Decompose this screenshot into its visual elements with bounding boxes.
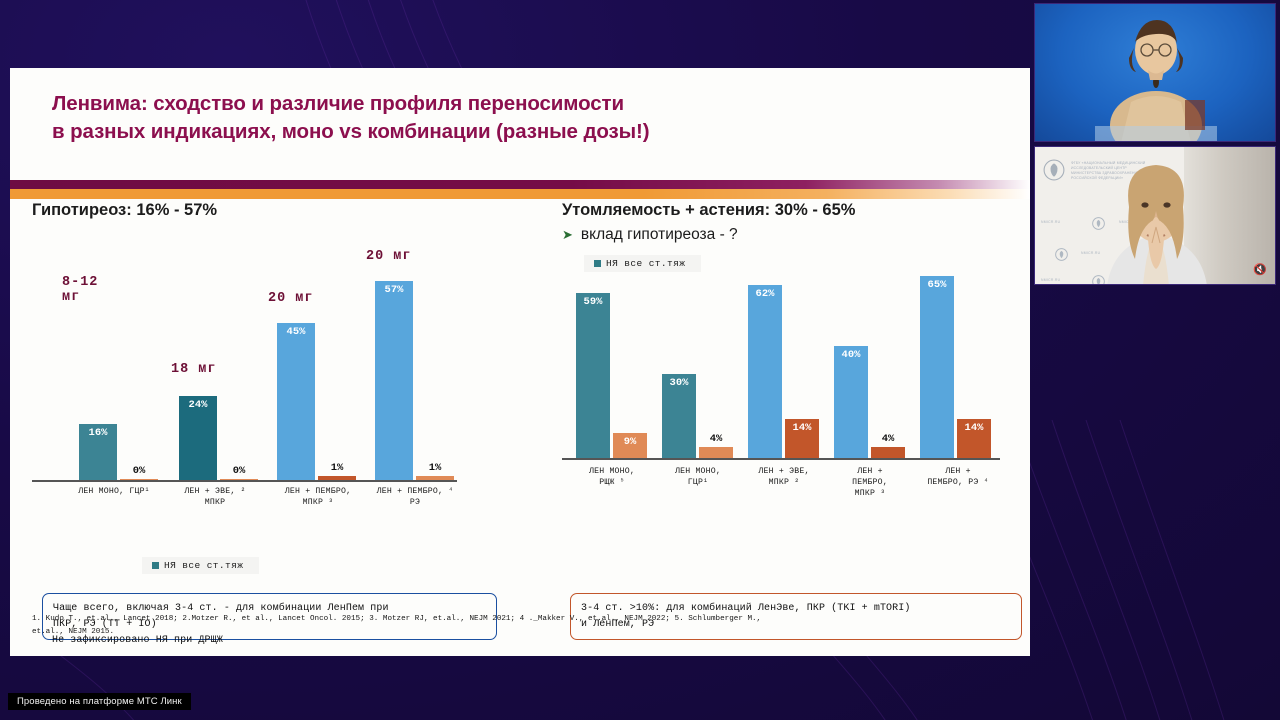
bar-value: 1%	[429, 462, 442, 474]
video-tile-speaker-2[interactable]: ФГБУ «НАЦИОНАЛЬНЫЙ МЕДИЦИНСКИЙ ИССЛЕДОВА…	[1034, 146, 1276, 285]
bar-fatigue-all-3: 62%	[748, 285, 782, 458]
hypothyroidism-chart: 8-12 мг 16% 0% ЛЕН МОНО, ГЦР¹ 18 мг 24% …	[32, 240, 528, 482]
bar-value: 0%	[133, 465, 146, 477]
bar-value: 59%	[584, 296, 603, 308]
fatigue-chart: 59% 9% ЛЕН МОНО, РЩЖ ⁵ 30% 4% ЛЕН МОНО, …	[562, 280, 1022, 460]
legend-swatch-icon	[594, 260, 601, 267]
x-axis	[562, 458, 1000, 460]
bar-hypo-severe-2: 0%	[220, 479, 258, 480]
legend-swatch-icon	[152, 562, 159, 569]
bar-value: 9%	[624, 436, 637, 448]
video-tile-speaker-1[interactable]	[1034, 3, 1276, 142]
left-legend-wrap: НЯ все ст.тяж	[142, 556, 259, 574]
bar-fatigue-severe-4: 4%	[871, 447, 905, 458]
x-label-5: ЛЕН + ПЕМБРО, РЭ ⁴	[908, 466, 1008, 488]
bar-fatigue-all-1: 59%	[576, 293, 610, 458]
speaker-1-figure	[1035, 4, 1276, 142]
bar-value: 4%	[882, 433, 895, 445]
bar-value: 0%	[233, 465, 246, 477]
legend-label: НЯ все ст.тяж	[164, 560, 243, 571]
left-chart-title: Гипотиреоз: 16% - 57%	[32, 201, 528, 220]
speaker-2-figure	[1035, 147, 1276, 285]
bar-fatigue-all-5: 65%	[920, 276, 954, 458]
x-label-1: ЛЕН МОНО, РЩЖ ⁵	[564, 466, 660, 488]
right-chart-title: Утомляемость + астения: 30% - 65%	[562, 201, 1022, 220]
bar-hypo-all-1: 16%	[79, 424, 117, 480]
bar-value: 1%	[331, 462, 344, 474]
dose-annotation-1: 8-12 мг	[62, 275, 98, 306]
dose-annotation-2: 18 мг	[171, 362, 217, 377]
bar-fatigue-severe-3: 14%	[785, 419, 819, 458]
bar-fatigue-severe-1: 9%	[613, 433, 647, 458]
dose-annotation-3: 20 мг	[268, 291, 314, 306]
bar-hypo-all-2: 24%	[179, 396, 217, 480]
platform-watermark: Проведено на платформе МТС Линк	[8, 693, 191, 710]
dose-annotation-4: 20 мг	[366, 249, 412, 264]
bar-fatigue-all-2: 30%	[662, 374, 696, 458]
references-footnote: 1. Kudo T., et.al., Lancet 2018; 2.Motze…	[32, 613, 1002, 639]
mic-muted-icon: 🔇	[1253, 265, 1267, 276]
bar-value: 4%	[710, 433, 723, 445]
presentation-slide: Ленвима: сходство и различие профиля пер…	[10, 68, 1030, 656]
left-chart-panel: Гипотиреоз: 16% - 57% 8-12 мг 16% 0% ЛЕН…	[32, 201, 528, 482]
x-label-4: ЛЕН + ПЕМБРО, ⁴ РЭ	[355, 486, 475, 508]
bar-value: 40%	[842, 349, 861, 361]
bar-hypo-severe-1: 0%	[120, 479, 158, 480]
right-legend-wrap: НЯ все ст.тяж	[584, 254, 1022, 272]
bar-value: 45%	[287, 326, 306, 338]
bar-hypo-all-4: 57%	[375, 281, 413, 480]
bar-value: 24%	[189, 399, 208, 411]
bar-value: 16%	[89, 427, 108, 439]
bar-hypo-all-3: 45%	[277, 323, 315, 480]
right-chart-panel: Утомляемость + астения: 30% - 65% ➤ вкла…	[562, 201, 1022, 460]
video-tiles: ФГБУ «НАЦИОНАЛЬНЫЙ МЕДИЦИНСКИЙ ИССЛЕДОВА…	[1030, 0, 1280, 288]
slide-title: Ленвима: сходство и различие профиля пер…	[52, 90, 992, 147]
bar-value: 57%	[385, 284, 404, 296]
bar-fatigue-all-4: 40%	[834, 346, 868, 458]
bar-value: 14%	[793, 422, 812, 434]
right-chart-subtitle-text: вклад гипотиреоза - ?	[581, 226, 738, 244]
bar-fatigue-severe-2: 4%	[699, 447, 733, 458]
x-label-3: ЛЕН + ЭВЕ, МПКР ²	[736, 466, 832, 488]
x-label-4: ЛЕН + ПЕМБРО, МПКР ³	[824, 466, 916, 499]
bar-value: 14%	[965, 422, 984, 434]
legend-item-all-grades: НЯ все ст.тяж	[142, 557, 259, 574]
bar-value: 65%	[928, 279, 947, 291]
bar-fatigue-severe-5: 14%	[957, 419, 991, 458]
bar-value: 30%	[670, 377, 689, 389]
legend-item-all-grades: НЯ все ст.тяж	[584, 255, 701, 272]
title-divider-rule	[10, 180, 1030, 199]
x-label-2: ЛЕН МОНО, ГЦР¹	[650, 466, 746, 488]
bar-value: 62%	[756, 288, 775, 300]
bar-hypo-severe-3: 1%	[318, 476, 356, 480]
arrow-bullet-icon: ➤	[562, 227, 573, 243]
bar-hypo-severe-4: 1%	[416, 476, 454, 480]
legend-label: НЯ все ст.тяж	[606, 258, 685, 269]
right-chart-subtitle: ➤ вклад гипотиреоза - ?	[562, 226, 1022, 244]
x-axis	[32, 480, 457, 482]
